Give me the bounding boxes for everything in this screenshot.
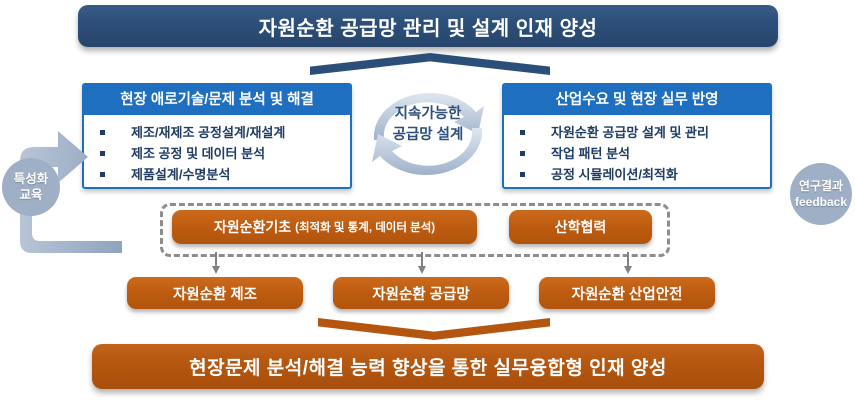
specialized-education-bubble: 특성화 교육 [2, 158, 60, 216]
diagram-canvas: 자원순환 공급망 관리 및 설계 인재 양성 현장 애로기술/문제 분석 및 해… [0, 0, 855, 406]
bubble-line1: 연구결과 [799, 178, 843, 194]
down-arrow-icon [421, 252, 423, 268]
pill-main-label: 자원순환기초 [214, 217, 291, 237]
sustainable-cycle-group: 지속가능한 공급망 설계 [358, 78, 498, 190]
cycle-label-line1: 지속가능한 [358, 104, 498, 125]
right-panel-list: 자원순환 공급망 설계 및 관리 작업 패턴 분석 공정 시뮬레이션/최적화 [514, 122, 764, 185]
up-chevron-arrow-icon [310, 53, 550, 75]
pill-label: 자원순환 공급망 [372, 283, 469, 304]
list-item-label: 작업 패턴 분석 [551, 143, 630, 164]
bullet-square-icon [520, 151, 525, 156]
pill-label: 자원순환 제조 [173, 283, 257, 304]
bottom-outcome-banner: 현장문제 분석/해결 능력 향상을 통한 실무융합형 인재 양성 [92, 344, 764, 389]
top-title-banner: 자원순환 공급망 관리 및 설계 인재 양성 [78, 5, 778, 47]
list-item-label: 자원순환 공급망 설계 및 관리 [551, 122, 709, 143]
bullet-square-icon [520, 172, 525, 177]
pill-label: 자원순환 산업안전 [572, 283, 683, 304]
research-feedback-bubble: 연구결과 feedback [790, 163, 852, 225]
bullet-square-icon [520, 130, 525, 135]
pill-track-industrial-safety[interactable]: 자원순환 산업안전 [539, 277, 715, 309]
list-item-label: 제조/재제조 공정설계/재설계 [131, 122, 285, 143]
pill-track-supply-chain[interactable]: 자원순환 공급망 [333, 277, 509, 309]
list-item-label: 제조 공정 및 데이터 분석 [131, 143, 265, 164]
down-chevron-arrow-icon [318, 318, 550, 340]
bubble-line2: 교육 [19, 187, 42, 203]
pill-industry-academic-cooperation[interactable]: 산학협력 [509, 210, 652, 244]
list-item: 자원순환 공급망 설계 및 관리 [514, 122, 764, 143]
bubble-line2: feedback [795, 194, 847, 210]
down-arrow-icon [627, 252, 629, 268]
list-item: 작업 패턴 분석 [514, 143, 764, 164]
cycle-label-line2: 공급망 설계 [358, 125, 498, 146]
cycle-label: 지속가능한 공급망 설계 [358, 104, 498, 146]
list-item-label: 제품설계/수명분석 [131, 164, 230, 185]
pill-sub-label: (최적화 및 통계, 데이터 분석) [295, 219, 435, 235]
down-arrow-icon [215, 252, 217, 268]
right-panel-header: 산업수요 및 현장 실무 반영 [504, 85, 770, 115]
pill-track-manufacturing[interactable]: 자원순환 제조 [127, 277, 303, 309]
bubble-line1: 특성화 [14, 171, 49, 187]
list-item-label: 공정 시뮬레이션/최적화 [551, 164, 678, 185]
pill-main-label: 산학협력 [555, 217, 607, 237]
pill-resource-basics[interactable]: 자원순환기초 (최적화 및 통계, 데이터 분석) [172, 210, 477, 244]
right-panel: 산업수요 및 현장 실무 반영 자원순환 공급망 설계 및 관리 작업 패턴 분… [502, 83, 772, 189]
right-panel-body: 자원순환 공급망 설계 및 관리 작업 패턴 분석 공정 시뮬레이션/최적화 [504, 115, 770, 189]
list-item: 공정 시뮬레이션/최적화 [514, 164, 764, 185]
